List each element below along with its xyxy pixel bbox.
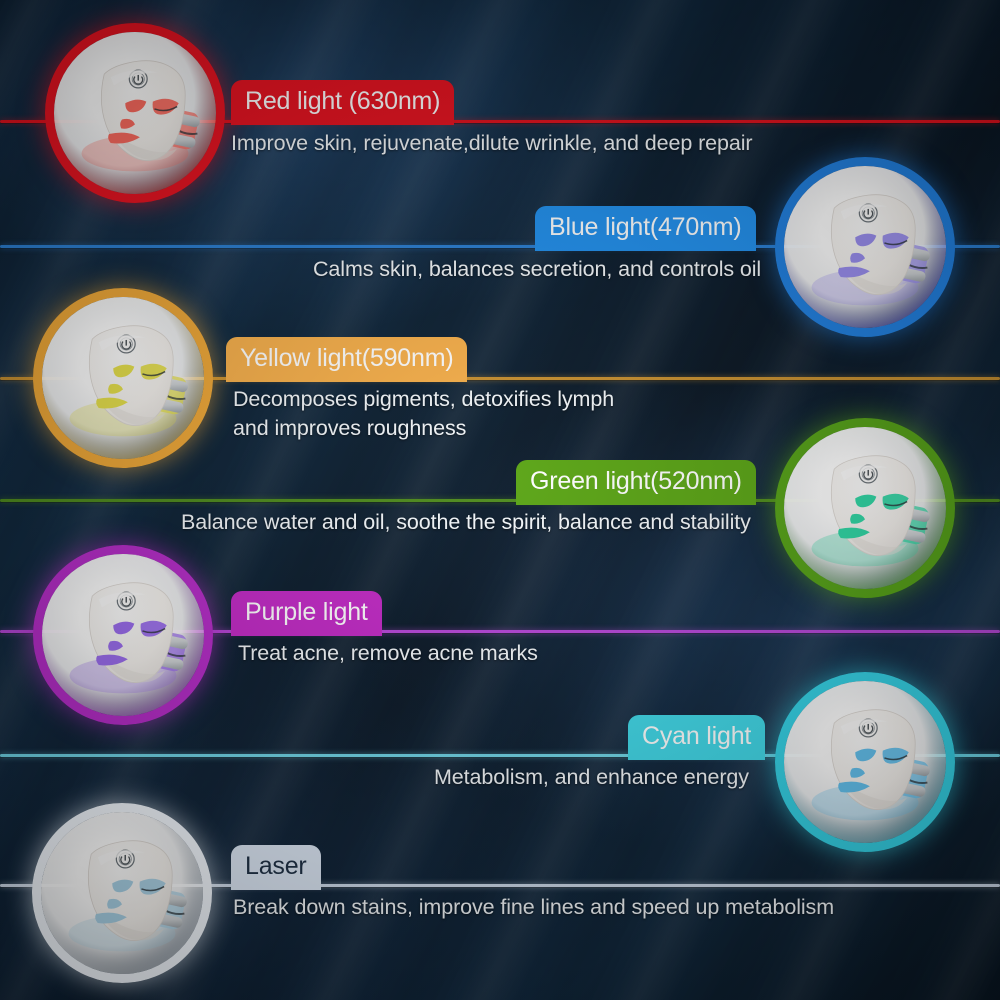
mask-image-purple	[42, 554, 204, 716]
description-red: Improve skin, rejuvenate,dilute wrinkle,…	[231, 129, 752, 158]
label-chip-blue[interactable]: Blue light(470nm)	[535, 206, 756, 251]
mask-node-laser[interactable]	[32, 803, 212, 983]
mask-image-green	[784, 427, 946, 589]
mask-image-blue	[784, 166, 946, 328]
description-yellow: Decomposes pigments, detoxifies lymph an…	[233, 385, 614, 442]
description-laser: Break down stains, improve fine lines an…	[233, 893, 834, 922]
mask-node-blue[interactable]	[775, 157, 955, 337]
label-chip-green[interactable]: Green light(520nm)	[516, 460, 756, 505]
infographic-canvas: Red light (630nm) Blue light(470nm) Yell…	[0, 0, 1000, 1000]
mask-node-red[interactable]	[45, 23, 225, 203]
description-purple: Treat acne, remove acne marks	[238, 639, 538, 668]
mask-node-purple[interactable]	[33, 545, 213, 725]
label-chip-yellow[interactable]: Yellow light(590nm)	[226, 337, 467, 382]
mask-image-laser	[41, 812, 203, 974]
label-chip-cyan[interactable]: Cyan light	[628, 715, 765, 760]
label-chip-purple[interactable]: Purple light	[231, 591, 382, 636]
mask-node-yellow[interactable]	[33, 288, 213, 468]
mask-image-yellow	[42, 297, 204, 459]
description-blue: Calms skin, balances secretion, and cont…	[313, 255, 761, 284]
mask-image-cyan	[784, 681, 946, 843]
label-chip-laser[interactable]: Laser	[231, 845, 321, 890]
mask-node-cyan[interactable]	[775, 672, 955, 852]
mask-node-green[interactable]	[775, 418, 955, 598]
description-cyan: Metabolism, and enhance energy	[434, 763, 749, 792]
description-green: Balance water and oil, soothe the spirit…	[181, 508, 751, 537]
mask-image-red	[54, 32, 216, 194]
label-chip-red[interactable]: Red light (630nm)	[231, 80, 454, 125]
